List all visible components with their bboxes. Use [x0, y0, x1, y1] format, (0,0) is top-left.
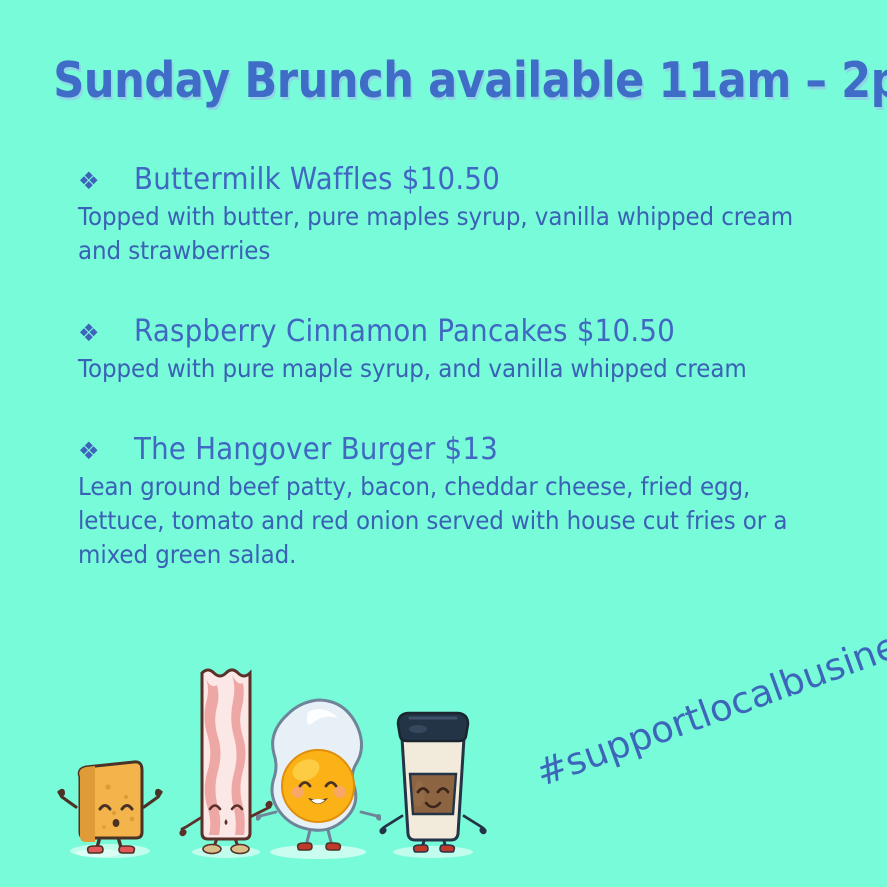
menu-item-buttermilk-waffles: ❖ Buttermilk Waffles $10.50 Topped with … [78, 162, 818, 268]
menu-item-title: Buttermilk Waffles $10.50 [134, 162, 500, 197]
hashtag-text: #supportlocalbusiness [530, 611, 887, 795]
brunch-menu-poster: Sunday Brunch available 11am – 2pm: ❖ Bu… [0, 0, 887, 887]
diamond-bullet-icon: ❖ [78, 321, 100, 345]
menu-item-heading: ❖ Raspberry Cinnamon Pancakes $10.50 [78, 314, 818, 349]
egg-character-icon [256, 694, 381, 859]
menu-item-raspberry-cinnamon-pancakes: ❖ Raspberry Cinnamon Pancakes $10.50 Top… [78, 314, 818, 386]
menu-item-title: The Hangover Burger $13 [134, 432, 498, 467]
menu-list: ❖ Buttermilk Waffles $10.50 Topped with … [78, 162, 818, 572]
menu-item-heading: ❖ The Hangover Burger $13 [78, 432, 818, 467]
menu-item-title: Raspberry Cinnamon Pancakes $10.50 [134, 314, 675, 349]
menu-item-the-hangover-burger: ❖ The Hangover Burger $13 Lean ground be… [78, 432, 818, 572]
menu-item-description: Topped with butter, pure maples syrup, v… [78, 200, 813, 268]
coffee-cup-character-icon [378, 704, 488, 859]
menu-item-description: Lean ground beef patty, bacon, cheddar c… [78, 470, 813, 572]
menu-item-description: Topped with pure maple syrup, and vanill… [78, 352, 813, 386]
diamond-bullet-icon: ❖ [78, 439, 100, 463]
page-title: Sunday Brunch available 11am – 2pm: [53, 52, 834, 109]
menu-item-heading: ❖ Buttermilk Waffles $10.50 [78, 162, 818, 197]
toast-character-icon [48, 739, 168, 859]
diamond-bullet-icon: ❖ [78, 169, 100, 193]
food-characters-illustration [38, 644, 468, 859]
